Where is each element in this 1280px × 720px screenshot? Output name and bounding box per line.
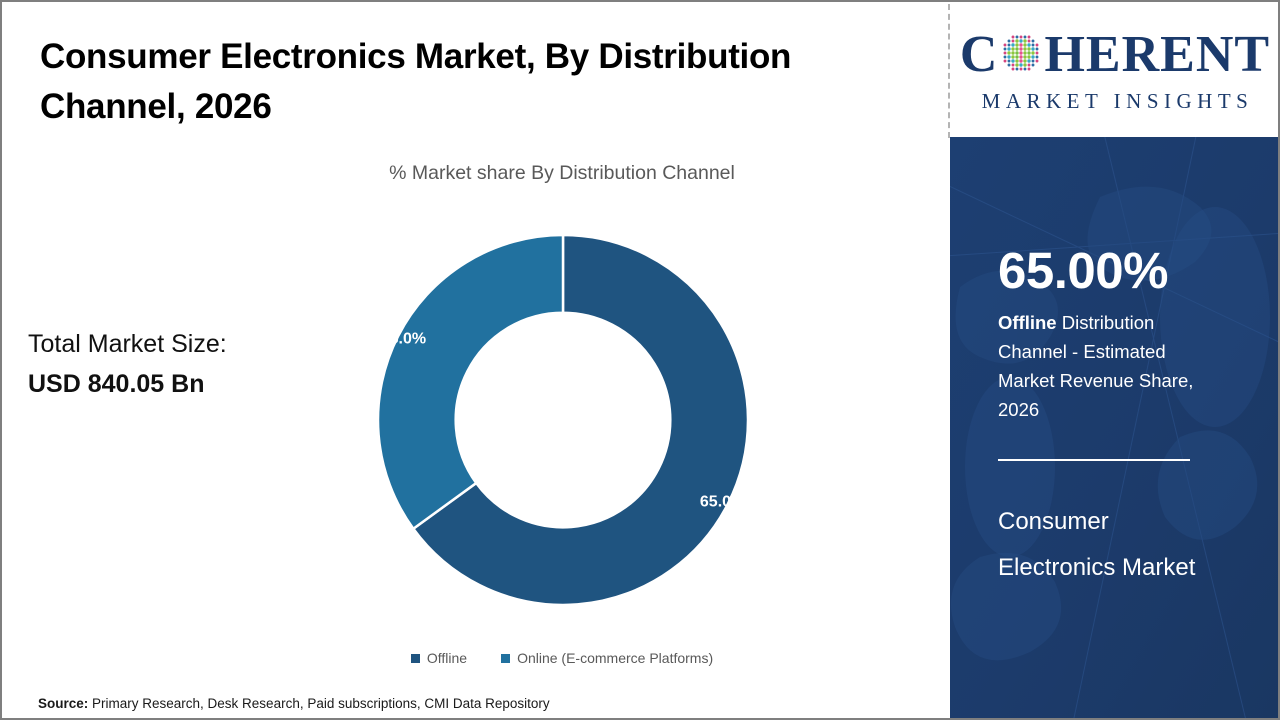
- logo-dotted-globe-icon: [999, 31, 1043, 80]
- brand-logo: C HERENT MARKET INSIGHTS: [950, 4, 1280, 137]
- total-market-size-value: USD 840.05 Bn: [28, 364, 227, 404]
- legend-item-offline[interactable]: Offline: [411, 650, 467, 666]
- donut-label-online: 35.0%: [381, 331, 426, 348]
- donut-label-offline: 65.0%: [700, 493, 745, 510]
- total-market-size-label: Total Market Size:: [28, 324, 227, 364]
- stat-value: 65.00%: [998, 245, 1168, 296]
- legend-label-offline: Offline: [427, 650, 467, 666]
- infographic-canvas: Consumer Electronics Market, By Distribu…: [0, 0, 1280, 720]
- donut-chart: 35.0% 65.0%: [373, 230, 753, 610]
- logo-tagline: MARKET INSIGHTS: [977, 89, 1254, 114]
- side-panel-content: 65.00% Offline Distribution Channel - Es…: [998, 137, 1248, 720]
- side-panel: 65.00% Offline Distribution Channel - Es…: [950, 137, 1280, 720]
- legend-label-online: Online (E-commerce Platforms): [517, 650, 713, 666]
- legend-swatch-offline: [411, 654, 420, 663]
- logo-word-rest: HERENT: [1044, 29, 1270, 81]
- legend-swatch-online: [501, 654, 510, 663]
- total-market-size: Total Market Size: USD 840.05 Bn: [28, 324, 227, 404]
- panel-divider-rule: [998, 459, 1190, 461]
- donut-slice-online[interactable]: [378, 235, 563, 529]
- source-text: Primary Research, Desk Research, Paid su…: [88, 696, 549, 711]
- logo-letter-c: C: [960, 29, 999, 81]
- logo-wordmark: C HERENT: [960, 27, 1270, 83]
- panel-market-name: Consumer Electronics Market: [998, 499, 1213, 590]
- source-line: Source: Primary Research, Desk Research,…: [38, 696, 550, 711]
- chart-legend: Offline Online (E-commerce Platforms): [172, 650, 952, 666]
- donut-chart-svg: 35.0% 65.0%: [373, 230, 753, 610]
- page-title: Consumer Electronics Market, By Distribu…: [40, 32, 870, 131]
- stat-description: Offline Distribution Channel - Estimated…: [998, 309, 1198, 424]
- legend-item-online[interactable]: Online (E-commerce Platforms): [501, 650, 713, 666]
- source-label: Source:: [38, 696, 88, 711]
- chart-subtitle: % Market share By Distribution Channel: [172, 162, 952, 185]
- stat-description-highlight: Offline: [998, 312, 1057, 333]
